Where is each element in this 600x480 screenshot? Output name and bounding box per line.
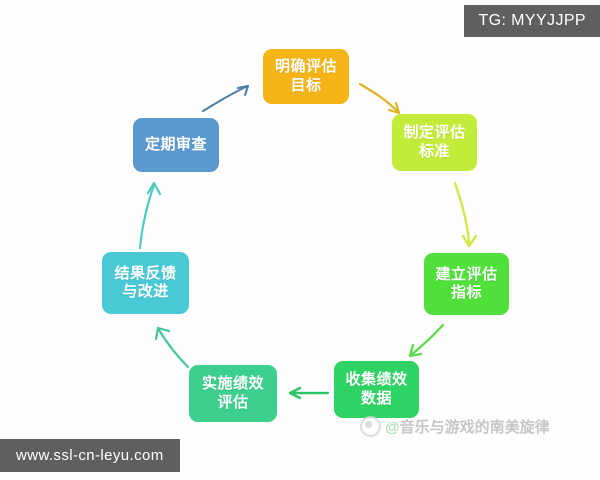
node-collect-data-label: 收集绩效数据 — [340, 371, 413, 408]
node-feedback-label: 结果反馈与改进 — [108, 265, 183, 302]
arrow-feedback-to-review — [140, 183, 160, 248]
arrow-standard-to-index — [455, 183, 476, 246]
node-clarify-goal-label: 明确评估目标 — [269, 58, 343, 95]
node-build-index-label: 建立评估指标 — [430, 266, 503, 303]
node-set-standard[interactable]: 制定评估标准 — [392, 114, 477, 171]
diagram-canvas: 明确评估目标 制定评估标准 建立评估指标 收集绩效数据 实施绩效评估 结果反馈与… — [0, 0, 600, 480]
weibo-logo-icon — [360, 416, 381, 437]
arrow-index-to-collect — [410, 325, 443, 356]
node-clarify-goal[interactable]: 明确评估目标 — [263, 49, 349, 104]
weibo-watermark: @音乐与游戏的南美旋律 — [360, 416, 550, 437]
node-feedback[interactable]: 结果反馈与改进 — [102, 252, 189, 314]
telegram-watermark: TG: MYYJJPP — [464, 5, 600, 37]
arrow-run-to-feedback — [156, 328, 188, 367]
node-collect-data[interactable]: 收集绩效数据 — [334, 361, 419, 418]
node-run-assessment-label: 实施绩效评估 — [195, 375, 271, 412]
node-review[interactable]: 定期审查 — [133, 118, 219, 172]
node-set-standard-label: 制定评估标准 — [398, 124, 471, 161]
arrow-review-to-clarify — [203, 86, 248, 111]
node-review-label: 定期审查 — [139, 136, 213, 154]
node-build-index[interactable]: 建立评估指标 — [424, 253, 509, 315]
site-watermark: www.ssl-cn-leyu.com — [0, 439, 180, 472]
arrow-clarify-to-standard — [360, 84, 399, 113]
weibo-handle: @音乐与游戏的南美旋律 — [385, 416, 550, 437]
node-run-assessment[interactable]: 实施绩效评估 — [189, 365, 277, 422]
arrow-collect-to-run — [290, 388, 328, 398]
